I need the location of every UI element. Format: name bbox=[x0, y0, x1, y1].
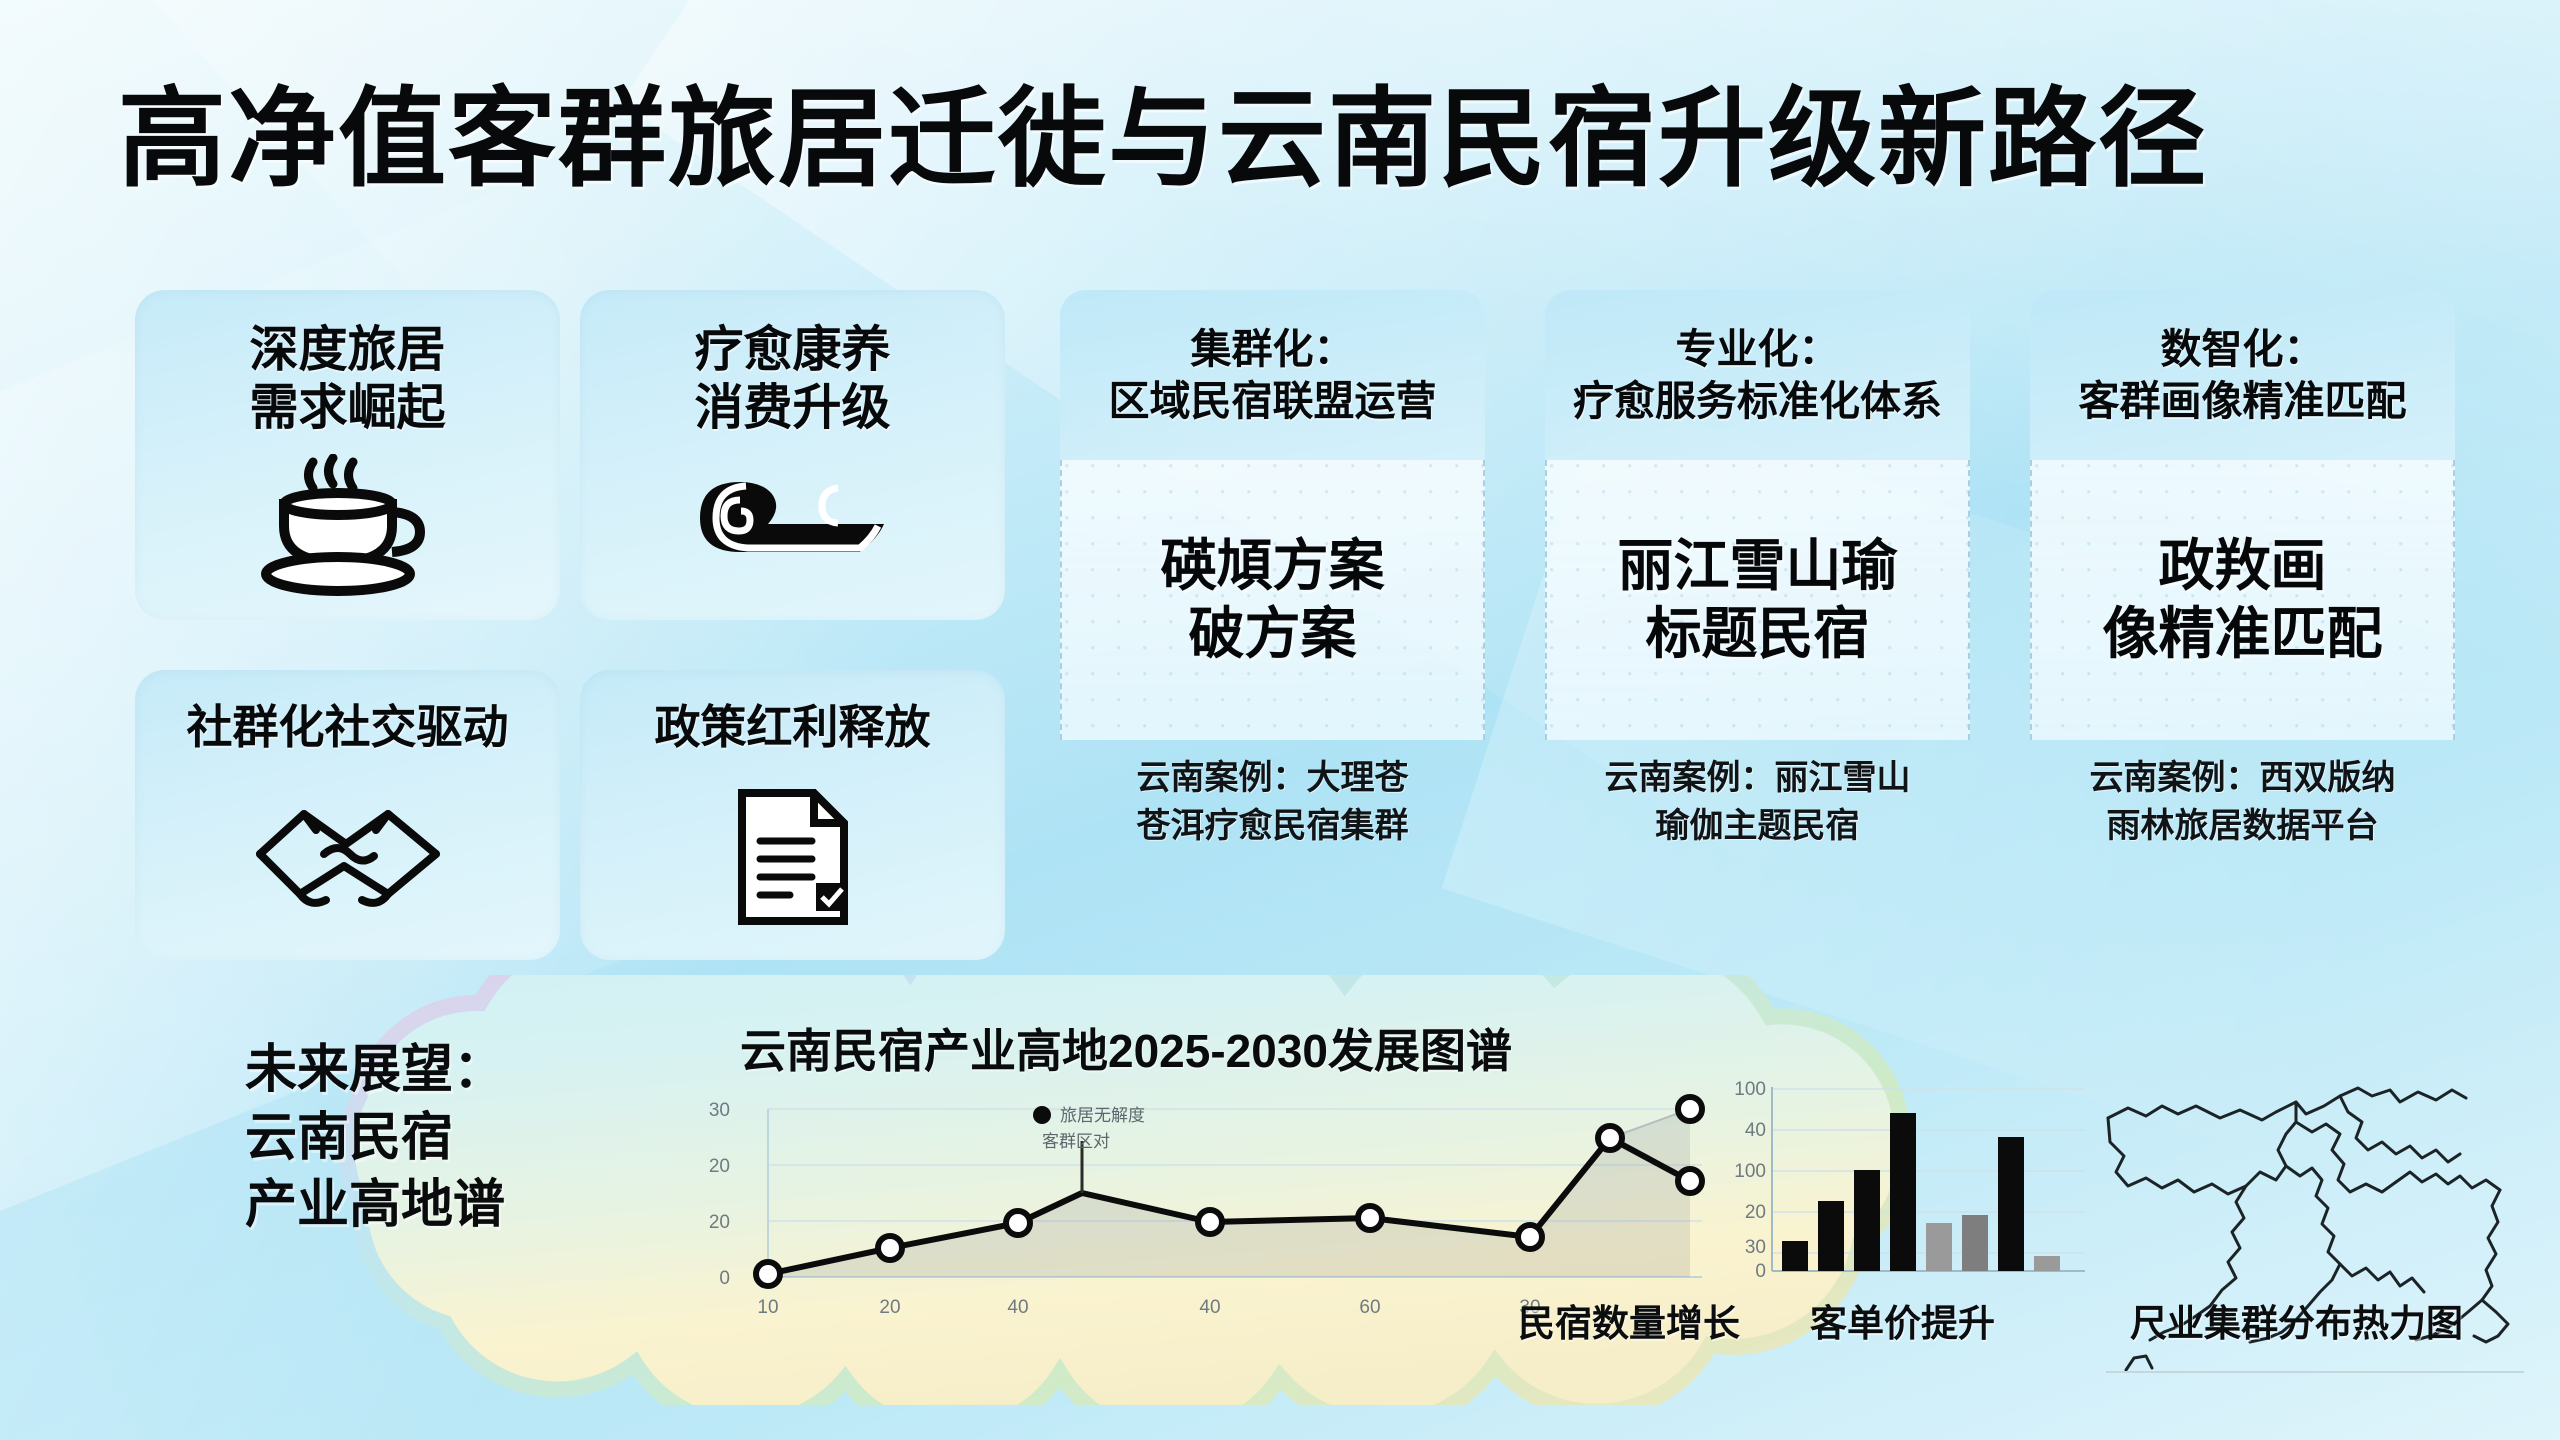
bar-ytick-0: 100 bbox=[1734, 1079, 1766, 1100]
line-ytick-2: 20 bbox=[709, 1212, 730, 1233]
line-ytick-3: 0 bbox=[719, 1268, 730, 1289]
column-clustering-body: 碤頄方案 破方案 bbox=[1060, 460, 1485, 740]
card-wellness[interactable]: 疗愈康养 消费升级 bbox=[580, 290, 1005, 620]
column-specialization[interactable]: 专业化： 疗愈服务标准化体系 丽江雪山瑜 标题民宿 云南案例：丽江雪山 瑜伽主题… bbox=[1545, 290, 1970, 910]
legend-label-1: 旅居无解度 bbox=[1060, 1106, 1145, 1125]
line-xtick-0: 10 bbox=[757, 1297, 778, 1318]
column-specialization-case: 云南案例：丽江雪山 瑜伽主题民宿 bbox=[1545, 740, 1970, 910]
card-policy[interactable]: 政策红利释放 bbox=[580, 670, 1005, 960]
line-xtick-3: 40 bbox=[1199, 1297, 1220, 1318]
column-digitalization-body: 政䍩画 像精准匹配 bbox=[2030, 460, 2455, 740]
handshake-icon bbox=[248, 754, 448, 960]
heatmap-caption: 尺业集群分布热力图 bbox=[2130, 1293, 2463, 1347]
legend-marker bbox=[1033, 1106, 1051, 1124]
infographic-page: 高净值客群旅居迁徙与云南民宿升级新路径 深度旅居 需求崛起 疗愈康养 消费升级 bbox=[0, 0, 2560, 1440]
column-specialization-header: 专业化： 疗愈服务标准化体系 bbox=[1545, 290, 1970, 460]
document-icon bbox=[728, 754, 858, 960]
bar-series bbox=[1782, 1113, 2060, 1271]
bar-ytick-4: 30 bbox=[1745, 1237, 1766, 1258]
bar-ytick-1: 40 bbox=[1745, 1120, 1766, 1141]
yoga-mat-icon bbox=[688, 438, 898, 620]
line-xtick-4: 60 bbox=[1359, 1297, 1380, 1318]
column-specialization-body: 丽江雪山瑜 标题民宿 bbox=[1545, 460, 1970, 740]
line-ytick-1: 20 bbox=[709, 1156, 730, 1177]
card-wellness-label: 疗愈康养 消费升级 bbox=[694, 290, 890, 438]
column-clustering-header: 集群化： 区域民宿联盟运营 bbox=[1060, 290, 1485, 460]
bar-ytick-2: 100 bbox=[1734, 1161, 1766, 1182]
card-deep-stay[interactable]: 深度旅居 需求崛起 bbox=[135, 290, 560, 620]
column-clustering[interactable]: 集群化： 区域民宿联盟运营 碤頄方案 破方案 云南案例：大理苍 苍洱疗愈民宿集群 bbox=[1060, 290, 1485, 910]
coffee-cup-icon bbox=[258, 438, 438, 620]
column-digitalization[interactable]: 数智化： 客群画像精准匹配 政䍩画 像精准匹配 云南案例：西双版纳 雨林旅居数据… bbox=[2030, 290, 2455, 910]
card-deep-stay-label: 深度旅居 需求崛起 bbox=[249, 290, 445, 438]
future-outlook-text: 未来展望： 云南民宿 产业高地谱 bbox=[245, 1037, 635, 1240]
bar-chart-caption: 客单价提升 bbox=[1810, 1293, 1995, 1347]
column-digitalization-case: 云南案例：西双版纳 雨林旅居数据平台 bbox=[2030, 740, 2455, 910]
column-digitalization-header: 数智化： 客群画像精准匹配 bbox=[2030, 290, 2455, 460]
bar-ytick-3: 20 bbox=[1745, 1202, 1766, 1223]
future-outlook-cloud: 未来展望： 云南民宿 产业高地谱 云南民宿产业高地2025-2030发展图谱 3… bbox=[110, 975, 2460, 1405]
line-chart-caption: 民宿数量增长 bbox=[1518, 1293, 1740, 1347]
chart-title: 云南民宿产业高地2025-2030发展图谱 bbox=[740, 1015, 1700, 1081]
line-xtick-2: 40 bbox=[1007, 1297, 1028, 1318]
line-xtick-1: 20 bbox=[879, 1297, 900, 1318]
card-community-label: 社群化社交驱动 bbox=[187, 670, 509, 754]
bar-ytick-5: 0 bbox=[1755, 1261, 1766, 1282]
page-title: 高净值客群旅居迁徙与云南民宿升级新路径 bbox=[118, 82, 2448, 195]
legend-label-2: 客群区对 bbox=[1042, 1132, 1110, 1151]
card-community[interactable]: 社群化社交驱动 bbox=[135, 670, 560, 960]
card-policy-label: 政策红利释放 bbox=[655, 670, 931, 754]
line-ytick-0: 30 bbox=[709, 1100, 730, 1121]
column-clustering-case: 云南案例：大理苍 苍洱疗愈民宿集群 bbox=[1060, 740, 1485, 910]
